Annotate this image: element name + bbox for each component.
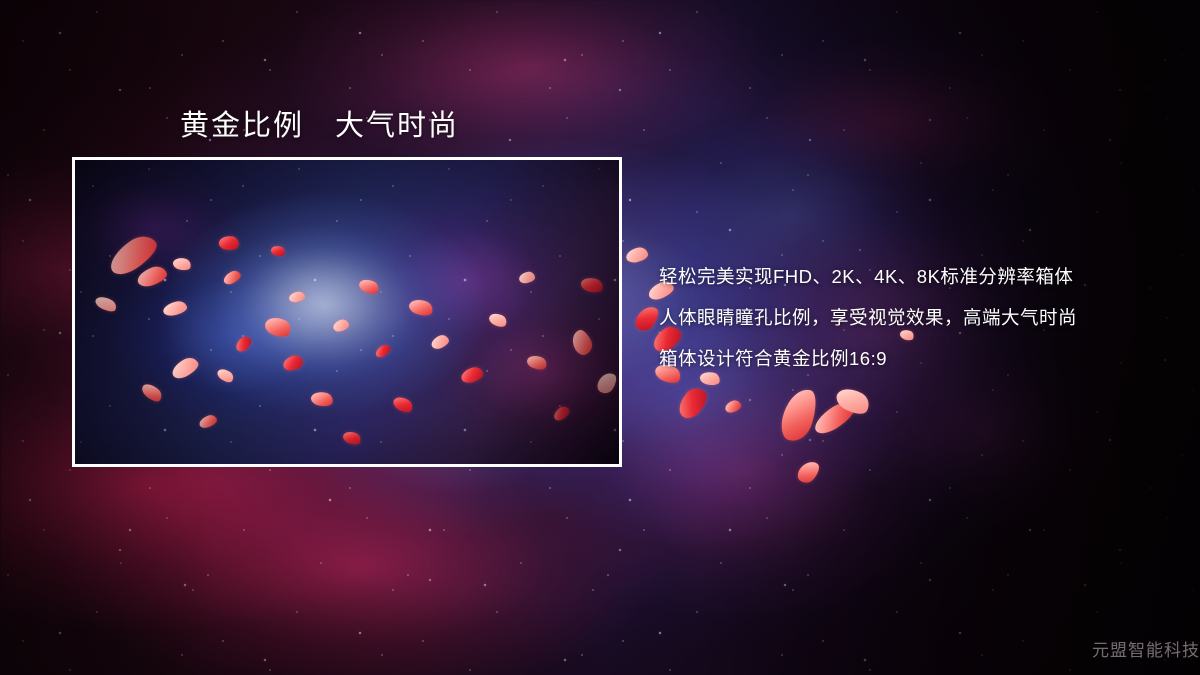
body-text-block: 轻松完美实现FHD、2K、4K、8K标准分辨率箱体 人体眼睛瞳孔比例，享受视觉效… <box>659 256 1159 379</box>
rose-petal <box>673 383 711 422</box>
rose-petal <box>625 246 649 264</box>
body-line: 轻松完美实现FHD、2K、4K、8K标准分辨率箱体 <box>659 256 1159 297</box>
page-title: 黄金比例 大气时尚 <box>180 102 459 144</box>
rose-petal <box>724 399 743 414</box>
rose-petal <box>833 383 873 418</box>
presentation-slide: 黄金比例 大气时尚 轻松完美实现FHD、2K、4K、8K标准分辨率箱体 人体眼睛… <box>0 0 1200 675</box>
rose-petal <box>810 398 858 438</box>
body-line: 人体眼睛瞳孔比例，享受视觉效果，高端大气时尚 <box>659 297 1159 338</box>
framed-image-vignette <box>75 160 619 464</box>
rose-petal <box>776 385 821 446</box>
body-line: 箱体设计符合黄金比例16:9 <box>659 338 1159 379</box>
rose-petal <box>632 302 662 334</box>
rose-petal <box>794 457 822 486</box>
watermark: 元盟智能科技 <box>1092 636 1200 661</box>
framed-image <box>72 157 622 467</box>
